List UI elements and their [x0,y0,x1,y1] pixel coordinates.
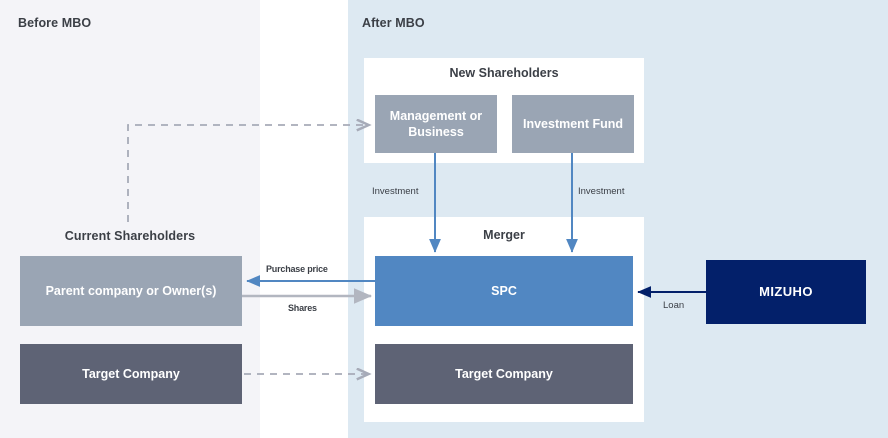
box-mizuho: MIZUHO [706,260,866,324]
label-investment-left: Investment [372,186,418,197]
box-investment-fund: Investment Fund [512,95,634,153]
label-shares: Shares [288,303,317,313]
mbo-structure-diagram: Before MBO After MBO Current Shareholder… [0,0,888,438]
panel-title-after: After MBO [362,16,425,30]
label-purchase-price: Purchase price [266,264,328,274]
label-investment-right: Investment [578,186,624,197]
merger-label: Merger [364,228,644,242]
box-spc: SPC [375,256,633,326]
new-shareholders-label: New Shareholders [364,66,644,80]
box-parent-company-or-owners: Parent company or Owner(s) [20,256,242,326]
box-management-or-business: Management or Business [375,95,497,153]
panel-title-before: Before MBO [18,16,91,30]
current-shareholders-label: Current Shareholders [0,229,260,243]
box-target-company-before: Target Company [20,344,242,404]
label-loan: Loan [663,300,684,311]
box-target-company-after: Target Company [375,344,633,404]
